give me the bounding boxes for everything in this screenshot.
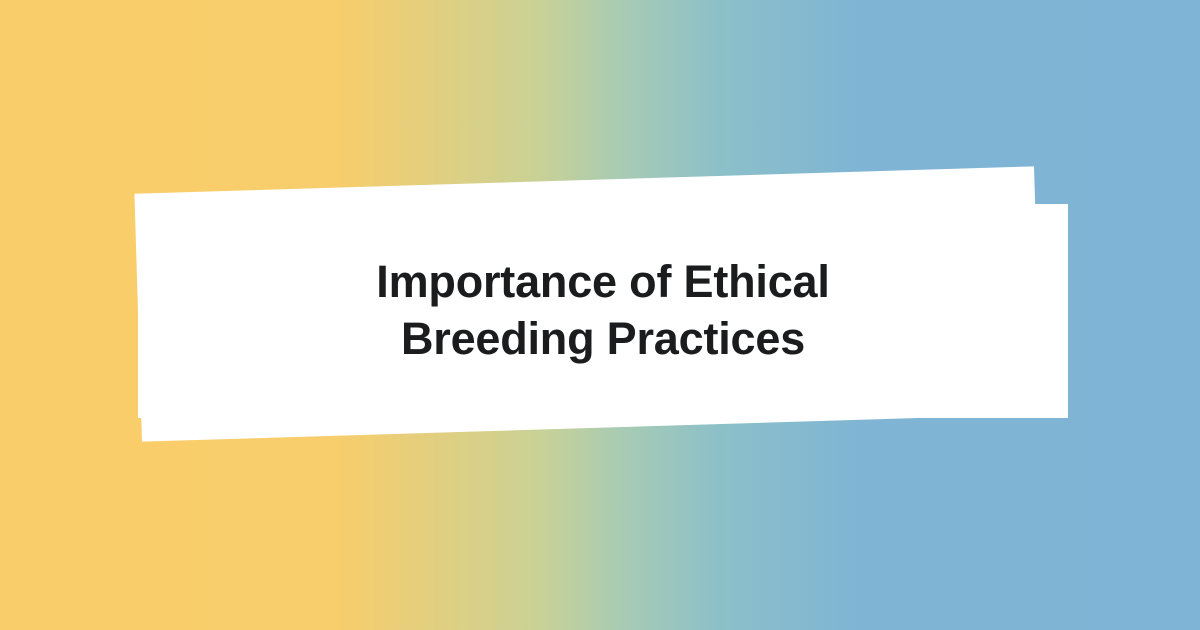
page-title: Importance of Ethical Breeding Practices [138,204,1068,418]
page-title-line-2: Breeding Practices [401,311,805,368]
page-title-line-1: Importance of Ethical [376,254,829,311]
banner: Importance of Ethical Breeding Practices [0,0,1200,630]
